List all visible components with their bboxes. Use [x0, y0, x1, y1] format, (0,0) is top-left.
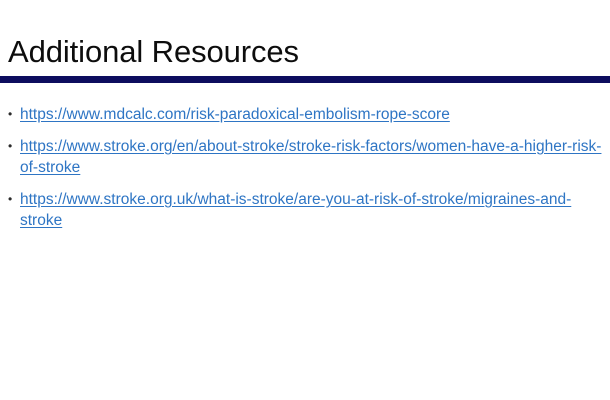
list-item: • https://www.stroke.org.uk/what-is-stro…	[0, 189, 610, 231]
bullet-dot-icon: •	[8, 104, 16, 125]
title-divider-bar	[0, 76, 610, 83]
list-item: • https://www.stroke.org/en/about-stroke…	[0, 136, 610, 178]
resource-list: • https://www.mdcalc.com/risk-paradoxica…	[0, 104, 610, 231]
resource-link-mdcalc[interactable]: https://www.mdcalc.com/risk-paradoxical-…	[20, 106, 450, 123]
bullet-dot-icon: •	[8, 189, 16, 210]
page-title: Additional Resources	[8, 32, 299, 72]
slide-title-area: Additional Resources	[0, 32, 610, 76]
list-item: • https://www.mdcalc.com/risk-paradoxica…	[0, 104, 610, 125]
slide-canvas: Additional Resources • https://www.mdcal…	[0, 0, 610, 400]
resource-link-stroke-org[interactable]: https://www.stroke.org/en/about-stroke/s…	[20, 138, 601, 176]
slide-body: • https://www.mdcalc.com/risk-paradoxica…	[0, 104, 610, 242]
bullet-dot-icon: •	[8, 136, 16, 157]
resource-link-stroke-org-uk[interactable]: https://www.stroke.org.uk/what-is-stroke…	[20, 191, 571, 229]
